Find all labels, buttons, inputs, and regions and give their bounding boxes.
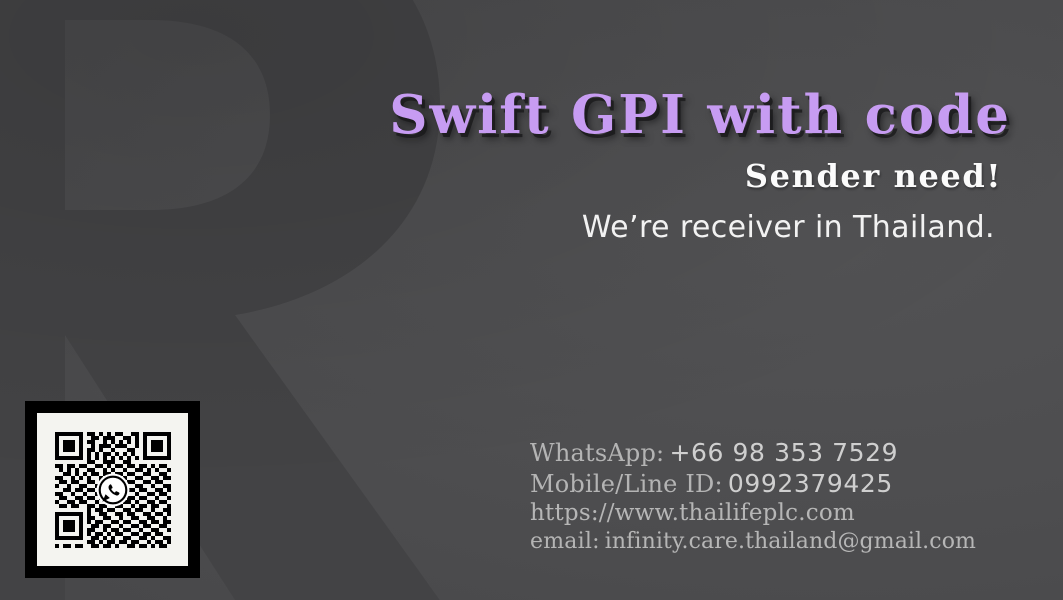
email-label: email: — [530, 529, 600, 554]
qr-code-frame[interactable] — [25, 401, 200, 578]
website-link[interactable]: https://www.thailifeplc.com — [530, 502, 1000, 525]
contact-row-mobile[interactable]: Mobile/Line ID: 0992379425 — [530, 471, 1000, 496]
page-title: Swift GPI with code — [0, 84, 1011, 146]
email-address[interactable]: infinity.care.thailand@gmail.com — [605, 529, 976, 554]
mobile-line-id-number[interactable]: 0992379425 — [728, 469, 893, 498]
contact-row-email[interactable]: email: infinity.care.thailand@gmail.com — [530, 531, 1000, 553]
whatsapp-number[interactable]: +66 98 353 7529 — [669, 438, 898, 467]
contact-block: WhatsApp: +66 98 353 7529 Mobile/Line ID… — [530, 440, 1000, 559]
mobile-line-id-label: Mobile/Line ID: — [530, 470, 723, 498]
whatsapp-logo-icon — [96, 473, 130, 507]
headline-subtitle: Sender need! — [0, 157, 1002, 195]
qr-code-area[interactable] — [37, 413, 188, 566]
whatsapp-label: WhatsApp: — [530, 439, 664, 467]
business-card: Swift GPI with code Sender need! We’re r… — [0, 0, 1063, 600]
headline-tagline: We’re receiver in Thailand. — [0, 210, 995, 245]
contact-row-whatsapp[interactable]: WhatsApp: +66 98 353 7529 — [530, 440, 1000, 465]
